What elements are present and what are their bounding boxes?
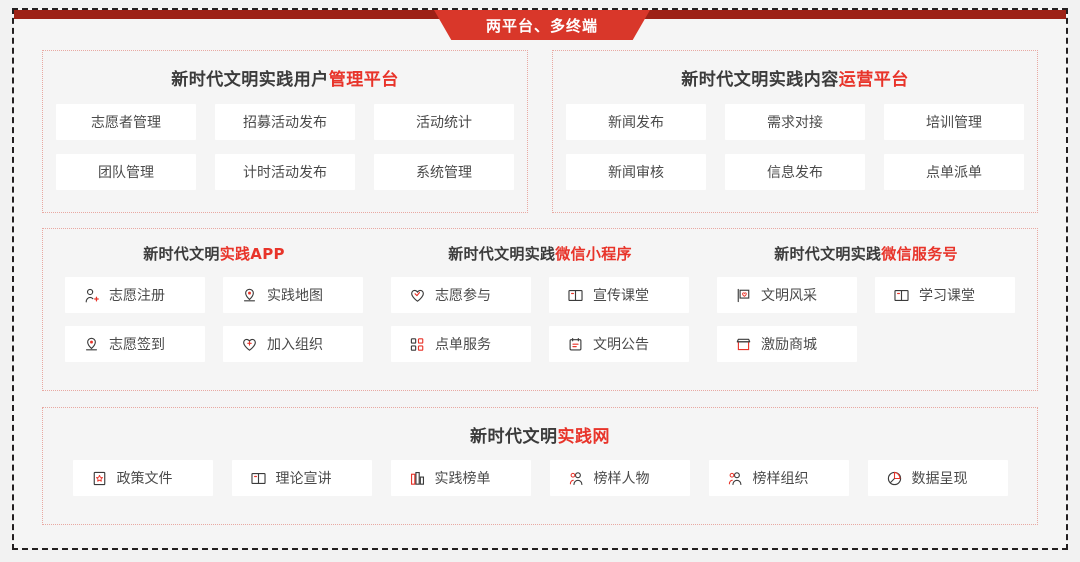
open-book-icon: [567, 287, 584, 304]
bar-chart-icon: [409, 470, 426, 487]
button-training-manage[interactable]: 培训管理: [884, 104, 1024, 140]
heart-plus-icon: [241, 336, 258, 353]
title-accent: 实践网: [558, 427, 611, 447]
button-label: 激励商城: [761, 334, 817, 354]
button-label: 实践榜单: [435, 468, 491, 488]
panel-content-platform: 新时代文明实践内容运营平台 新闻发布 需求对接 培训管理 新闻审核 信息发布 点…: [552, 50, 1038, 213]
icon-row: 志愿签到 加入组织: [61, 326, 367, 362]
button-order-service[interactable]: 点单服务: [391, 326, 531, 362]
open-book-icon: [250, 470, 267, 487]
button-activity-stats[interactable]: 活动统计: [374, 104, 514, 140]
button-info-publish[interactable]: 信息发布: [725, 154, 865, 190]
panel-user-platform: 新时代文明实践用户管理平台 志愿者管理 招募活动发布 活动统计 团队管理 计时活…: [42, 50, 528, 213]
panel-web-title: 新时代文明实践网: [43, 408, 1037, 447]
banner-title: 两平台、多终端: [434, 10, 650, 40]
column-miniprogram: 新时代文明实践微信小程序 志愿参与 宣传课堂 点单服务: [387, 229, 693, 362]
open-book-icon: [893, 287, 910, 304]
button-role-model-person[interactable]: 榜样人物: [550, 460, 690, 496]
title-accent: 管理平台: [329, 70, 399, 90]
spacer: [875, 326, 1015, 362]
button-join-organization[interactable]: 加入组织: [223, 326, 363, 362]
title-plain: 新时代文明: [143, 245, 220, 263]
button-theory-lecture[interactable]: 理论宣讲: [232, 460, 372, 496]
button-label: 实践地图: [267, 285, 323, 305]
button-demand-matching[interactable]: 需求对接: [725, 104, 865, 140]
heart-icon: [409, 287, 426, 304]
button-row: 团队管理 计时活动发布 系统管理: [43, 154, 527, 190]
button-news-review[interactable]: 新闻审核: [566, 154, 706, 190]
button-label: 文明风采: [761, 285, 817, 305]
button-news-publish[interactable]: 新闻发布: [566, 104, 706, 140]
button-team-manage[interactable]: 团队管理: [56, 154, 196, 190]
title-accent: 实践APP: [220, 245, 285, 263]
icon-row: 点单服务 文明公告: [387, 326, 693, 362]
button-label: 志愿注册: [109, 285, 165, 305]
title-plain: 新时代文明: [470, 427, 558, 447]
people-icon: [727, 470, 744, 487]
title-plain: 新时代文明实践: [774, 245, 881, 263]
panel-mobile-terminals: 新时代文明实践APP 志愿注册 实践地图 志愿签到: [42, 228, 1038, 391]
button-recruit-publish[interactable]: 招募活动发布: [215, 104, 355, 140]
flag-heart-icon: [735, 287, 752, 304]
button-practice-ranking[interactable]: 实践榜单: [391, 460, 531, 496]
button-study-classroom[interactable]: 学习课堂: [875, 277, 1015, 313]
button-publicity-classroom[interactable]: 宣传课堂: [549, 277, 689, 313]
title-accent: 微信服务号: [881, 245, 958, 263]
web-button-row: 政策文件 理论宣讲 实践榜单 榜样人物 榜样组织 数据呈现: [43, 460, 1037, 496]
button-civilization-announcement[interactable]: 文明公告: [549, 326, 689, 362]
button-label: 榜样组织: [753, 468, 809, 488]
button-volunteer-register[interactable]: 志愿注册: [65, 277, 205, 313]
column-app-title: 新时代文明实践APP: [61, 229, 367, 264]
button-label: 理论宣讲: [276, 468, 332, 488]
button-order-dispatch[interactable]: 点单派单: [884, 154, 1024, 190]
button-role-model-organization[interactable]: 榜样组织: [709, 460, 849, 496]
icon-row: 志愿注册 实践地图: [61, 277, 367, 313]
icon-row: 激励商城: [713, 326, 1019, 362]
title-plain: 新时代文明实践内容: [681, 70, 839, 90]
button-label: 数据呈现: [912, 468, 968, 488]
button-label: 宣传课堂: [593, 285, 649, 305]
icon-row: 志愿参与 宣传课堂: [387, 277, 693, 313]
button-volunteer-participate[interactable]: 志愿参与: [391, 277, 531, 313]
button-timed-activity-publish[interactable]: 计时活动发布: [215, 154, 355, 190]
button-label: 志愿签到: [109, 334, 165, 354]
button-civilization-style[interactable]: 文明风采: [717, 277, 857, 313]
title-accent: 运营平台: [839, 70, 909, 90]
title-plain: 新时代文明实践: [448, 245, 555, 263]
document-star-icon: [91, 470, 108, 487]
button-label: 学习课堂: [919, 285, 975, 305]
button-practice-map[interactable]: 实践地图: [223, 277, 363, 313]
button-label: 加入组织: [267, 334, 323, 354]
button-row: 新闻审核 信息发布 点单派单: [553, 154, 1037, 190]
button-label: 文明公告: [593, 334, 649, 354]
button-incentive-mall[interactable]: 激励商城: [717, 326, 857, 362]
button-volunteer-checkin[interactable]: 志愿签到: [65, 326, 205, 362]
button-system-manage[interactable]: 系统管理: [374, 154, 514, 190]
panel-content-platform-title: 新时代文明实践内容运营平台: [553, 51, 1037, 90]
title-plain: 新时代文明实践用户: [171, 70, 329, 90]
pie-chart-icon: [886, 470, 903, 487]
mobile-columns: 新时代文明实践APP 志愿注册 实践地图 志愿签到: [43, 229, 1037, 362]
location-check-icon: [83, 336, 100, 353]
column-app: 新时代文明实践APP 志愿注册 实践地图 志愿签到: [61, 229, 367, 362]
column-service-account-title: 新时代文明实践微信服务号: [713, 229, 1019, 264]
title-accent: 微信小程序: [555, 245, 632, 263]
user-add-icon: [83, 287, 100, 304]
button-label: 政策文件: [117, 468, 173, 488]
column-miniprogram-title: 新时代文明实践微信小程序: [387, 229, 693, 264]
button-label: 点单服务: [435, 334, 491, 354]
column-service-account: 新时代文明实践微信服务号 文明风采 学习课堂 激励商城: [713, 229, 1019, 362]
clipboard-icon: [567, 336, 584, 353]
button-data-presentation[interactable]: 数据呈现: [868, 460, 1008, 496]
bar-chart-icon: [409, 336, 426, 353]
button-policy-documents[interactable]: 政策文件: [73, 460, 213, 496]
panel-user-platform-title: 新时代文明实践用户管理平台: [43, 51, 527, 90]
icon-row: 文明风采 学习课堂: [713, 277, 1019, 313]
map-pin-icon: [241, 287, 258, 304]
panel-web: 新时代文明实践网 政策文件 理论宣讲 实践榜单 榜样人物 榜样组织 数据呈现: [42, 407, 1038, 525]
button-label: 榜样人物: [594, 468, 650, 488]
button-label: 志愿参与: [435, 285, 491, 305]
people-icon: [568, 470, 585, 487]
shop-icon: [735, 336, 752, 353]
button-row: 志愿者管理 招募活动发布 活动统计: [43, 104, 527, 140]
button-volunteer-manage[interactable]: 志愿者管理: [56, 104, 196, 140]
button-row: 新闻发布 需求对接 培训管理: [553, 104, 1037, 140]
